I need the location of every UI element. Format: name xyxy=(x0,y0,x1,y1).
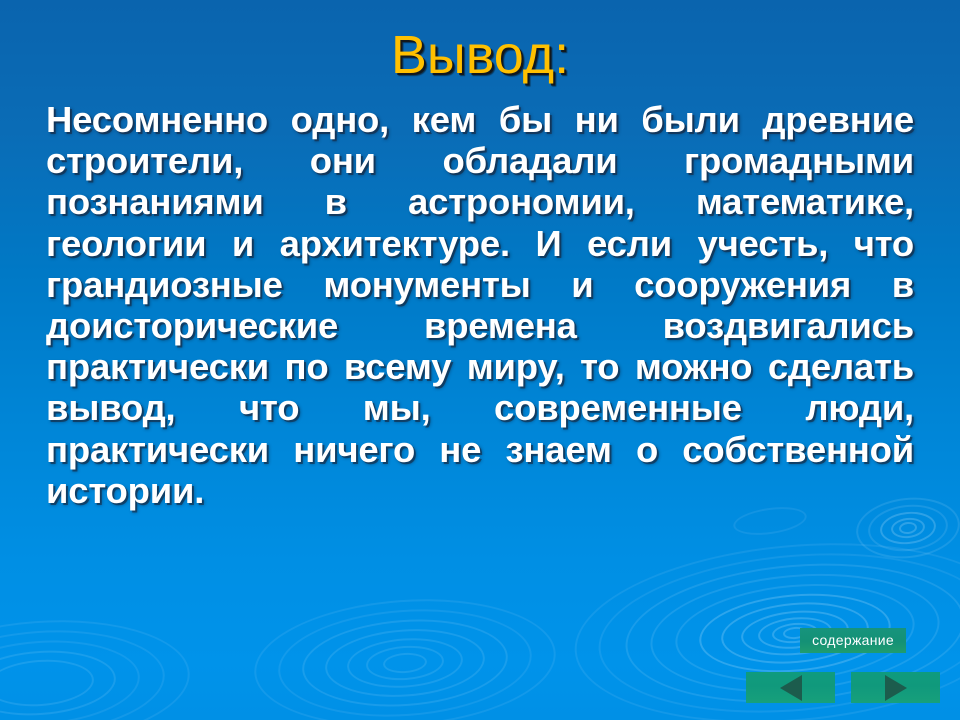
triangle-right-icon xyxy=(885,675,907,701)
ripple-cluster-far-left xyxy=(0,620,190,720)
slide-title: Вывод: xyxy=(0,26,960,84)
triangle-left-icon xyxy=(780,675,802,701)
slide-body-text: Несомненно одно, кем бы ни были древние … xyxy=(46,99,914,552)
next-slide-button[interactable] xyxy=(851,672,940,703)
contents-link-label[interactable]: содержание xyxy=(800,628,906,653)
ripple-cluster-left xyxy=(255,600,555,720)
previous-slide-button[interactable] xyxy=(746,672,835,703)
presentation-slide: Вывод: Несомненно одно, кем бы ни были д… xyxy=(0,0,960,720)
